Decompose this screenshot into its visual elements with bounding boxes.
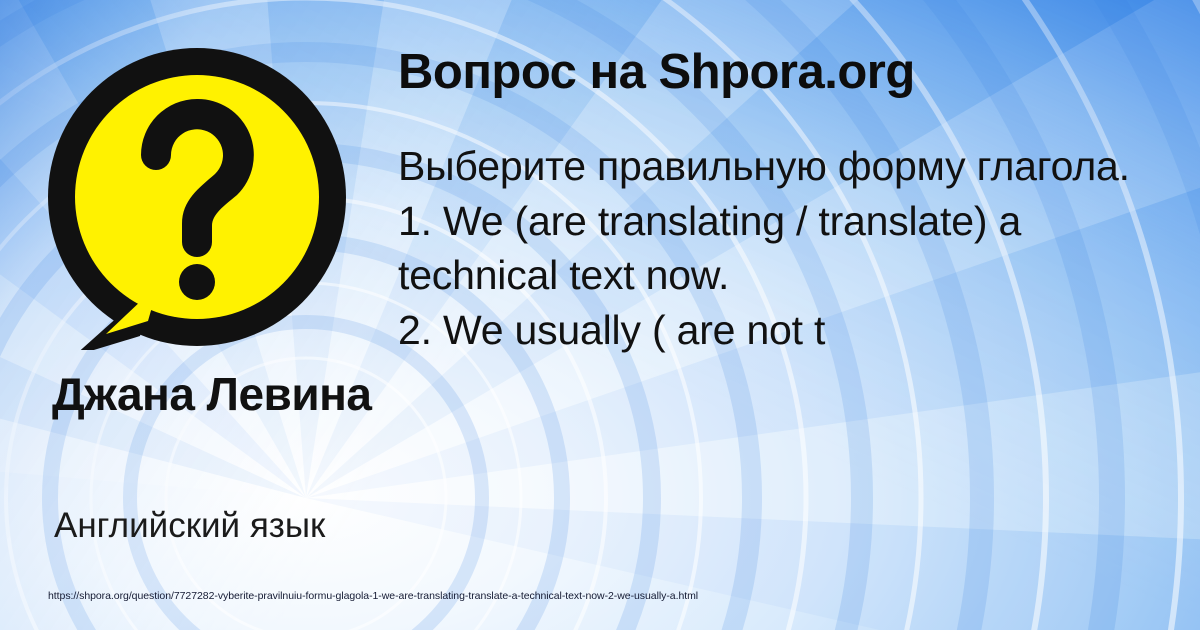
question-share-card: Джана Левина Английский язык Вопрос на S…	[0, 0, 1200, 630]
page-title: Вопрос на Shpora.org	[398, 48, 1188, 97]
left-column: Джана Левина Английский язык	[0, 0, 382, 630]
question-speech-bubble-icon	[44, 44, 350, 350]
source-url[interactable]: https://shpora.org/question/7727282-vybe…	[48, 590, 698, 602]
question-text: Выберите правильную форму глагола. 1. We…	[398, 139, 1188, 357]
author-name: Джана Левина	[52, 372, 372, 417]
subject-label: Английский язык	[54, 508, 384, 545]
right-column: Вопрос на Shpora.org Выберите правильную…	[398, 48, 1188, 357]
